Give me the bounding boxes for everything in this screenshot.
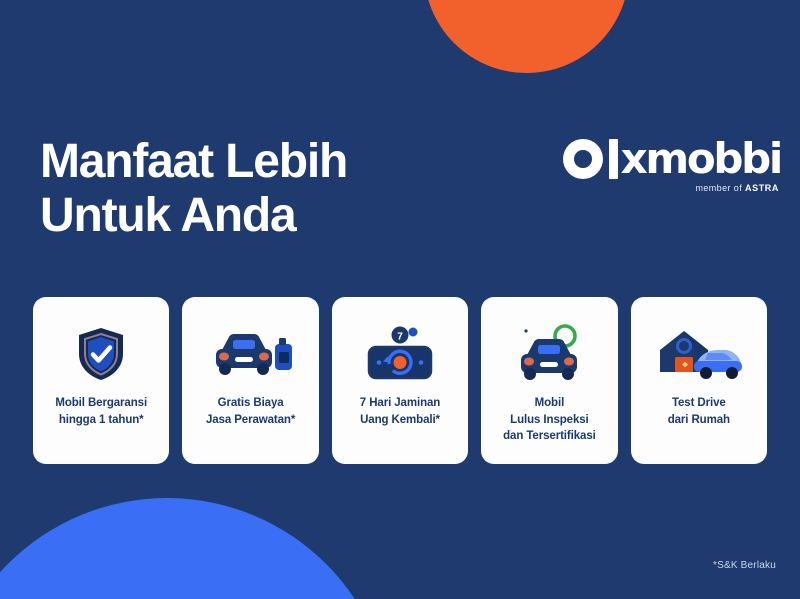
home-test-drive-icon [631,323,767,385]
terms-footnote: *S&K Berlaku [713,560,776,571]
logo-tagline: member of ASTRA [563,183,781,193]
logo-tagline-brand: ASTRA [745,183,779,193]
car-inspection-magnifier-icon [481,323,617,385]
benefit-card-warranty[interactable]: Mobil Bergaransi hingga 1 tahun* [33,297,169,464]
benefit-card-free-service[interactable]: Gratis Biaya Jasa Perawatan* [182,297,318,464]
logo-wordmark: xmobbi [621,139,781,179]
page-title: Manfaat Lebih Untuk Anda [40,135,347,243]
benefit-card-money-back[interactable]: 7 7 Hari Jaminan Uang Kembali* [332,297,468,464]
benefit-card-label: Mobil Lulus Inspeksi dan Tersertifikasi [497,395,602,445]
car-service-oil-icon [182,323,318,385]
svg-text:7: 7 [397,332,403,343]
benefit-card-label: Test Drive dari Rumah [662,395,736,428]
shield-check-icon [33,323,169,385]
benefit-card-inspection[interactable]: Mobil Lulus Inspeksi dan Tersertifikasi [481,297,617,464]
benefit-card-label: Mobil Bergaransi hingga 1 tahun* [49,395,153,428]
logo-o-ring-icon [563,139,603,179]
logo-tagline-prefix: member of [695,183,745,193]
benefit-card-label: Gratis Biaya Jasa Perawatan* [200,395,301,428]
blue-circle-decoration [0,498,392,599]
brand-logo: xmobbi member of ASTRA [563,138,781,193]
logo-mark: xmobbi [563,138,781,180]
benefit-card-label: 7 Hari Jaminan Uang Kembali* [354,395,446,428]
money-back-banknote-icon: 7 [332,323,468,385]
orange-circle-decoration [424,0,629,73]
logo-bar-icon [609,139,618,179]
promo-banner: Manfaat Lebih Untuk Anda xmobbi member o… [0,0,800,599]
benefit-card-list: Mobil Bergaransi hingga 1 tahun* [33,297,767,464]
benefit-card-test-drive[interactable]: Test Drive dari Rumah [631,297,767,464]
